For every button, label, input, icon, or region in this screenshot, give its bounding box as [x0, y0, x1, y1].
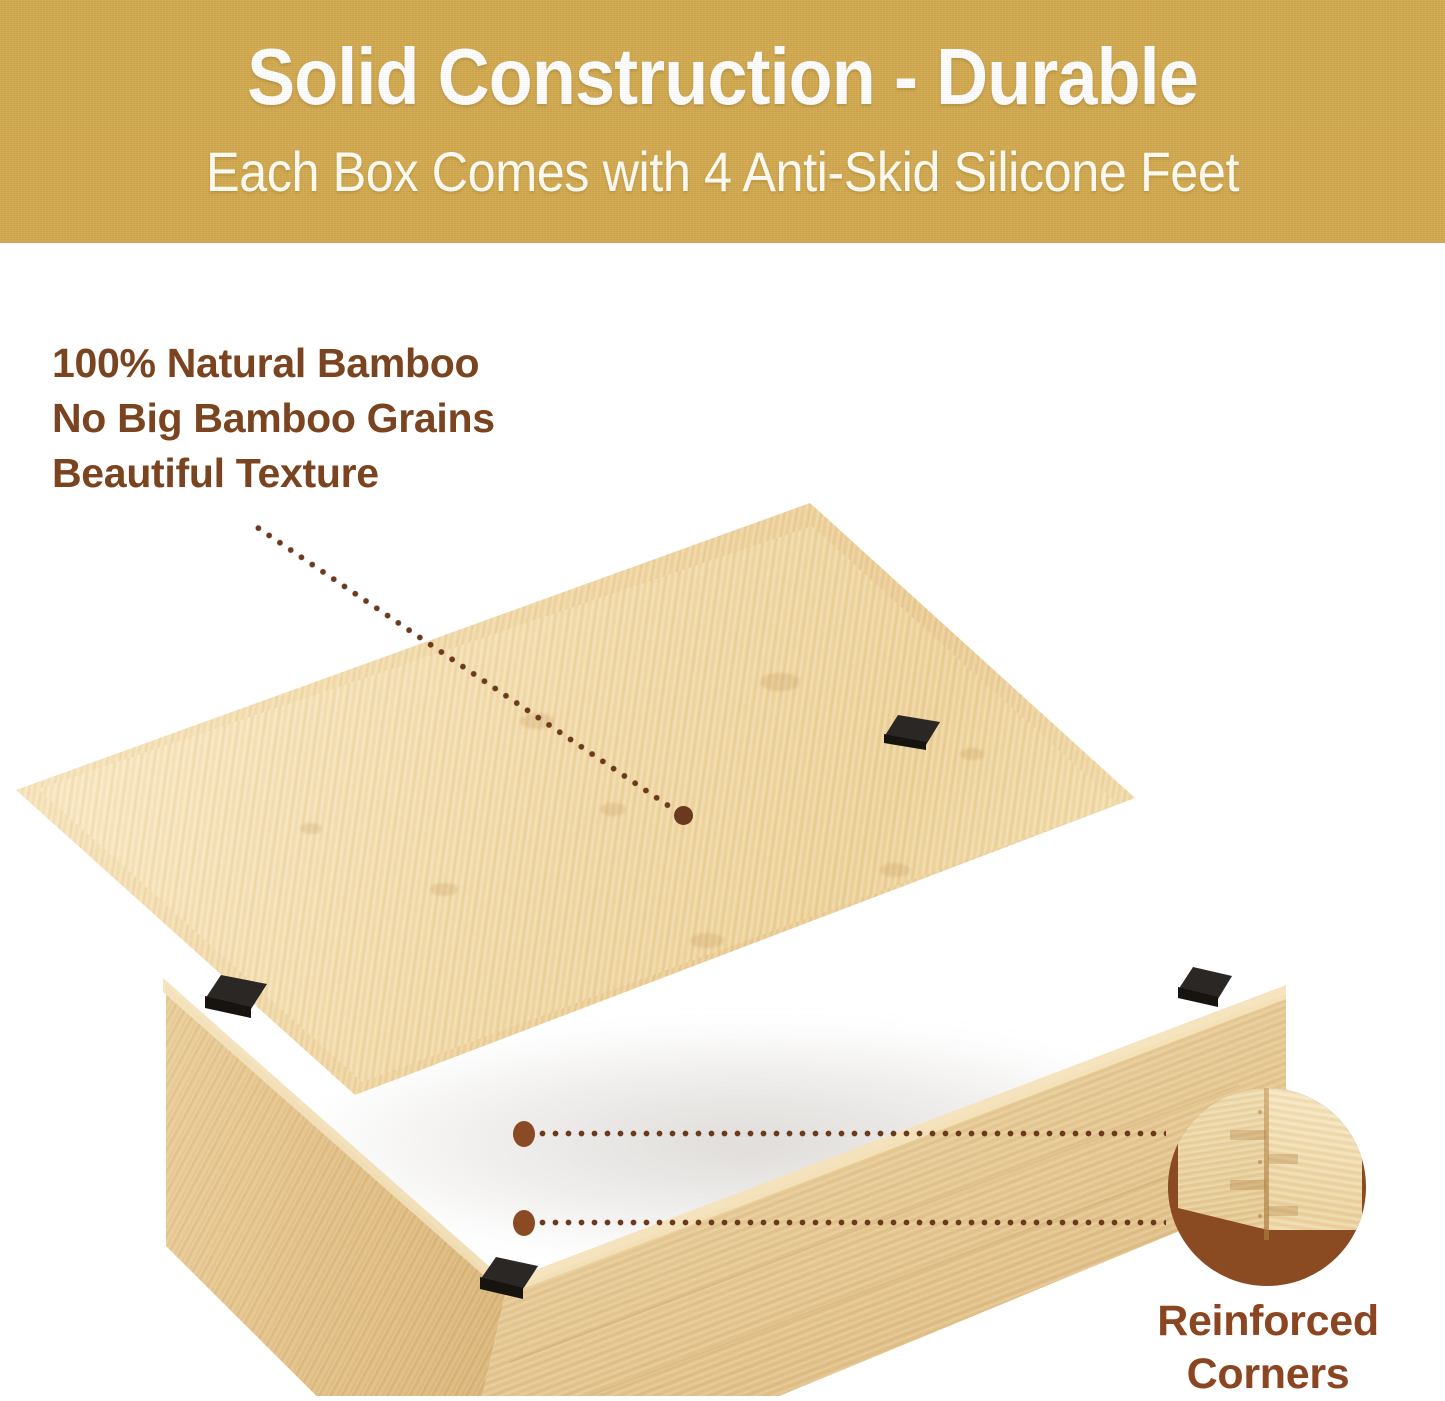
leader-origin-upper-joint	[513, 1121, 535, 1147]
corner-closeup-photo	[1168, 1088, 1366, 1286]
badge-label-line-2: Corners	[1108, 1348, 1428, 1401]
banner-subtitle: Each Box Comes with 4 Anti-Skid Silicone…	[72, 141, 1373, 203]
banner-title: Solid Construction - Durable	[72, 34, 1373, 120]
leader-origin-lower-joint	[513, 1210, 535, 1236]
badge-label: Reinforced Corners	[1108, 1295, 1428, 1401]
leader-endpoint-material	[674, 806, 693, 825]
badge-label-line-1: Reinforced	[1108, 1295, 1428, 1348]
corner-photo-left-face	[1178, 1088, 1268, 1262]
corner-photo-right-face	[1267, 1088, 1362, 1262]
header-banner: Solid Construction - Durable Each Box Co…	[0, 0, 1445, 243]
reinforced-corners-badge	[1168, 1088, 1366, 1286]
corner-photo-edge	[1264, 1088, 1269, 1240]
leader-line-upper-joint	[536, 1130, 1166, 1137]
leader-line-lower-joint	[536, 1219, 1166, 1226]
